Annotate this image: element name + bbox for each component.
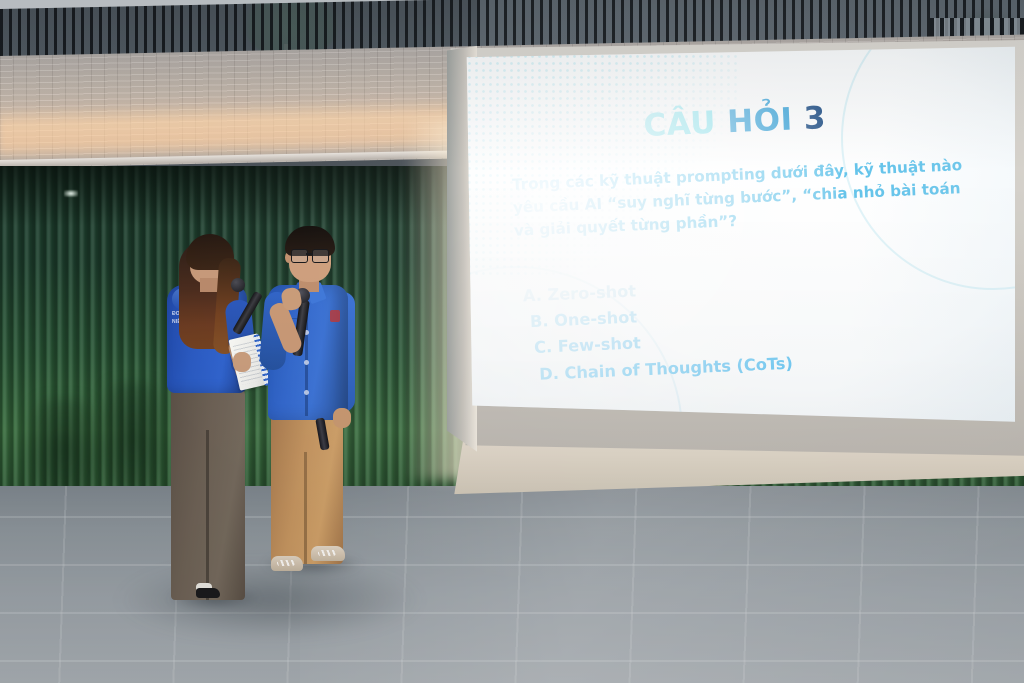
shoe-stripe [318,550,336,556]
slide-content: CÂU HỎI 3 Trong các kỹ thuật prompting d… [459,46,1015,450]
slide-title: CÂU HỎI 3 [643,100,827,144]
presenter-left-hand [233,352,251,372]
slide-title-part1: CÂU [643,105,717,144]
shirt-button [304,360,309,365]
shirt-button [304,390,309,395]
presenter-left-shoe [196,588,220,598]
presenter-right-trouser-seam [304,452,307,564]
projection-screen[interactable]: CÂU HỎI 3 Trong các kỹ thuật prompting d… [447,40,1024,460]
ceiling-lamp-reflection [64,190,78,197]
slide-title-part2: HỎI [726,101,793,140]
presenter-right-badge [330,310,340,322]
presenter-right-hand [333,408,351,428]
slide-options: A. Zero-shot B. One-shot C. Few-shot D. … [522,265,946,388]
presenter-right-trousers [271,412,343,564]
eyeglass-lens-right [312,249,329,263]
screen-surface[interactable]: CÂU HỎI 3 Trong các kỹ thuật prompting d… [459,46,1015,450]
slide-question: Trong các kỹ thuật prompting dưới đây, k… [512,155,945,243]
shoe-stripe [277,560,295,566]
cast-shadow [96,382,170,502]
eyeglasses-icon [291,249,329,261]
microphone-head-icon [231,278,245,292]
photo-scene: CÂU HỎI 3 Trong các kỹ thuật prompting d… [0,0,1024,683]
presenter-left-trouser-seam [206,430,209,600]
slide-title-part3: 3 [803,100,827,137]
eyeglass-lens-left [291,249,308,263]
